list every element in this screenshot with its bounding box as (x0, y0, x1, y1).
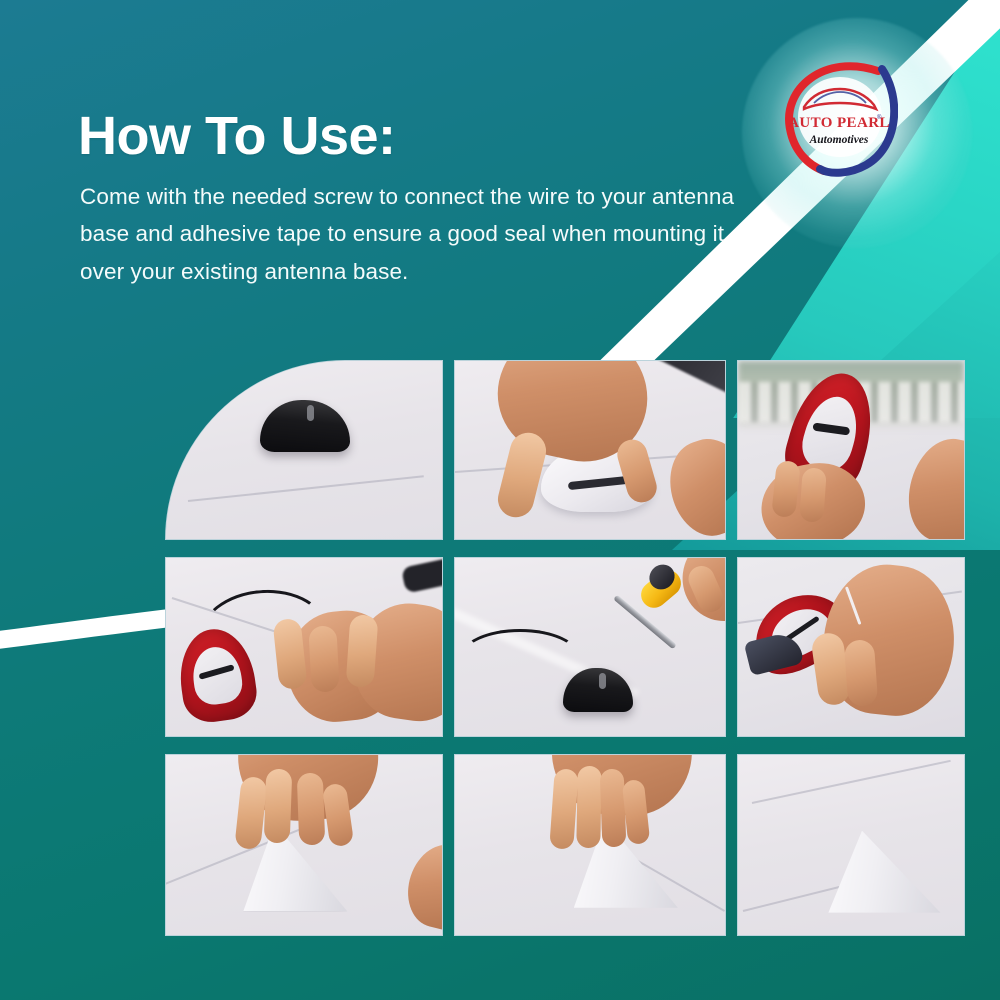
auto-pearl-logo[interactable]: AUTO PEARL ® Automotives (780, 55, 898, 177)
logo-registered-mark: ® (877, 114, 882, 121)
finger (297, 773, 325, 846)
instructions-paragraph: Come with the needed screw to connect th… (80, 178, 740, 290)
cover-slot (568, 476, 629, 490)
finger (799, 467, 827, 523)
finger (264, 769, 293, 844)
step-image-1[interactable] (165, 360, 443, 540)
finger (599, 769, 626, 848)
finger (844, 639, 879, 707)
finger (346, 614, 379, 688)
step-image-3[interactable] (737, 360, 965, 540)
finger (308, 625, 339, 692)
logo-brand-top: AUTO PEARL (788, 115, 890, 131)
step-image-9[interactable] (737, 754, 965, 936)
finger (576, 766, 601, 848)
step-image-4[interactable] (165, 557, 443, 737)
logo-brand-bottom: Automotives (809, 134, 869, 146)
page-title: How To Use: (78, 108, 396, 165)
step-image-2[interactable] (454, 360, 726, 540)
antenna-cable (460, 629, 580, 685)
step-image-5[interactable] (454, 557, 726, 737)
instructions-text: Come with the needed screw to connect th… (80, 178, 740, 290)
steps-grid (165, 360, 943, 932)
step-image-8[interactable] (454, 754, 726, 936)
poster-canvas: AUTO PEARL ® Automotives How To Use: Com… (0, 0, 1000, 1000)
step-image-6[interactable] (737, 557, 965, 737)
step-image-7[interactable] (165, 754, 443, 936)
